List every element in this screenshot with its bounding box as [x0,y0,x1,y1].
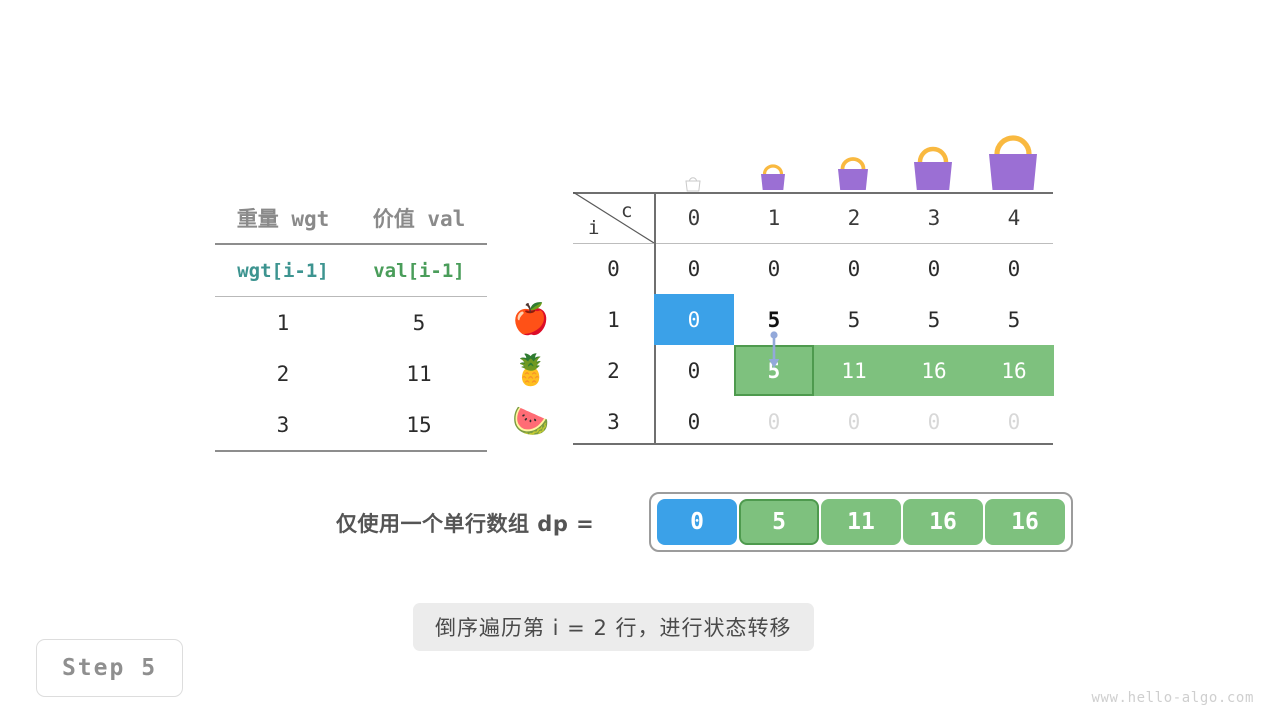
dp-cell-r0c4: 0 [974,243,1054,294]
apple-emoji: 🍎 [500,294,562,345]
table-row: 1 5 [215,297,487,348]
slide-canvas: 重量 wgt 价值 val wgt[i-1] val[i-1] 1 5 2 11… [0,0,1280,720]
dp-cell-r0c2: 0 [814,243,894,294]
dp-cell-r2c1: 5 [734,345,814,396]
cell-val-3: 15 [351,413,487,437]
item-icon-column: 🍎 🍍 🍉 [500,294,562,447]
dp-col-header-0: 0 [654,192,734,243]
weight-value-header-row: 重量 wgt 价值 val [215,192,487,243]
dp-array-cell-4[interactable]: 16 [985,499,1065,545]
bag-icon-2 [813,154,893,192]
dp-cell-r3c2: 0 [814,396,894,447]
bag-icon-3 [893,142,973,192]
weight-value-table: 重量 wgt 价值 val wgt[i-1] val[i-1] 1 5 2 11… [215,192,487,452]
dp-cell-r1c1: 5 [734,294,814,345]
divider-bottom [215,450,487,452]
dp-col-header-3: 3 [894,192,974,243]
bag-icon-empty [653,174,733,192]
cell-wgt-2: 2 [215,362,351,386]
watermark: www.hello-algo.com [1091,690,1254,706]
corner-diagonal-line [573,192,654,243]
table-row: 2 11 [215,348,487,399]
cell-wgt-1: 1 [215,311,351,335]
dp-array-label: 仅使用一个单行数组 dp = [336,508,594,538]
subheader-wgt-expr: wgt[i-1] [215,260,351,282]
dp-cell-r1c2: 5 [814,294,894,345]
dp-cell-r1c4: 5 [974,294,1054,345]
dp-array-cell-0[interactable]: 0 [657,499,737,545]
dp-row-header-0: 0 [573,243,654,294]
subheader-val-expr: val[i-1] [351,260,487,282]
dp-array-cell-1[interactable]: 5 [739,499,819,545]
dp-cell-r1c0: 0 [654,294,734,345]
dp-col-header-2: 2 [814,192,894,243]
table-row: 3 15 [215,399,487,450]
dp-row-header-2: 2 [573,345,654,396]
dp-row-header-1: 1 [573,294,654,345]
cell-val-1: 5 [351,311,487,335]
dp-cell-r3c3: 0 [894,396,974,447]
corner-label-i: i [588,217,599,239]
dp-array-cell-2[interactable]: 11 [821,499,901,545]
dp-cell-r3c1: 0 [734,396,814,447]
caption-text: 倒序遍历第 i = 2 行，进行状态转移 [413,603,814,651]
weight-value-subheader-row: wgt[i-1] val[i-1] [215,245,487,296]
dp-col-header-1: 1 [734,192,814,243]
dp-cell-r2c2: 11 [814,345,894,396]
dp-cell-r3c4: 0 [974,396,1054,447]
dp-col-header-4: 4 [974,192,1054,243]
dp-cell-r1c3: 5 [894,294,974,345]
dp-cell-r2c4: 16 [974,345,1054,396]
dp-cell-r0c0: 0 [654,243,734,294]
step-badge: Step 5 [36,639,183,697]
dp-cell-r2c0: 0 [654,345,734,396]
corner-label-c: c [621,200,632,222]
dp-cell-r3c0: 0 [654,396,734,447]
dp-cell-r0c3: 0 [894,243,974,294]
pineapple-emoji: 🍍 [500,345,562,396]
dp-matrix-table: c i 0 1 2 3 4 0 0 0 0 0 0 1 0 5 5 5 5 2 … [573,192,1053,445]
bag-icon-4 [973,130,1053,192]
bag-capacity-icons [653,124,1053,192]
dp-row-header-3: 3 [573,396,654,447]
cell-wgt-3: 3 [215,413,351,437]
dp-array-strip: 0 5 11 16 16 [649,492,1073,552]
watermelon-emoji: 🍉 [500,396,562,447]
dp-cell-r0c1: 0 [734,243,814,294]
header-wgt: 重量 wgt [215,203,351,233]
cell-val-2: 11 [351,362,487,386]
dp-array-cell-3[interactable]: 16 [903,499,983,545]
dp-cell-r2c3: 16 [894,345,974,396]
header-val: 价值 val [351,203,487,233]
bag-icon-1 [733,162,813,192]
